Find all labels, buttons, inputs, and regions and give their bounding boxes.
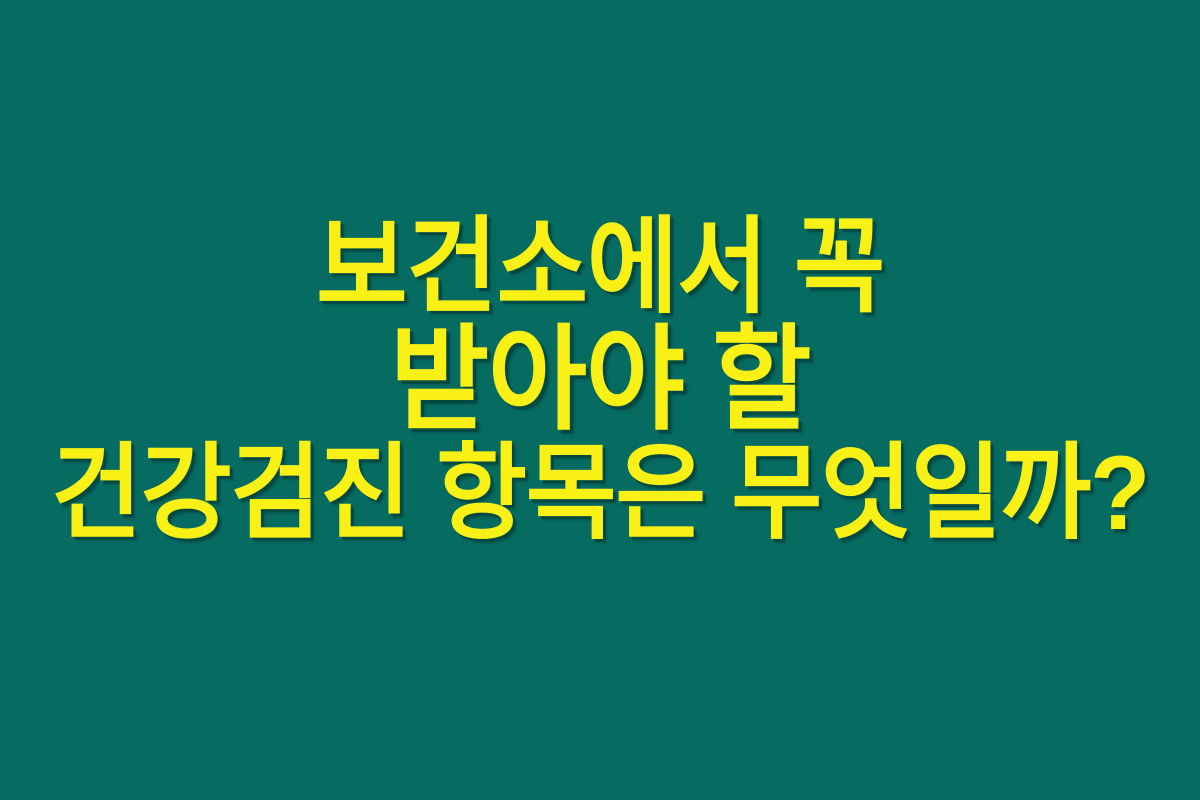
headline-line-2: 받아야 할 (390, 322, 810, 436)
headline-block: 보건소에서 꼭 받아야 할 건강검진 항목은 무엇일까? (0, 218, 1200, 546)
poster-canvas: 보건소에서 꼭 받아야 할 건강검진 항목은 무엇일까? (0, 0, 1200, 800)
headline-line-1: 보건소에서 꼭 (316, 214, 884, 319)
headline-line-3: 건강검진 항목은 무엇일까? (51, 442, 1149, 547)
